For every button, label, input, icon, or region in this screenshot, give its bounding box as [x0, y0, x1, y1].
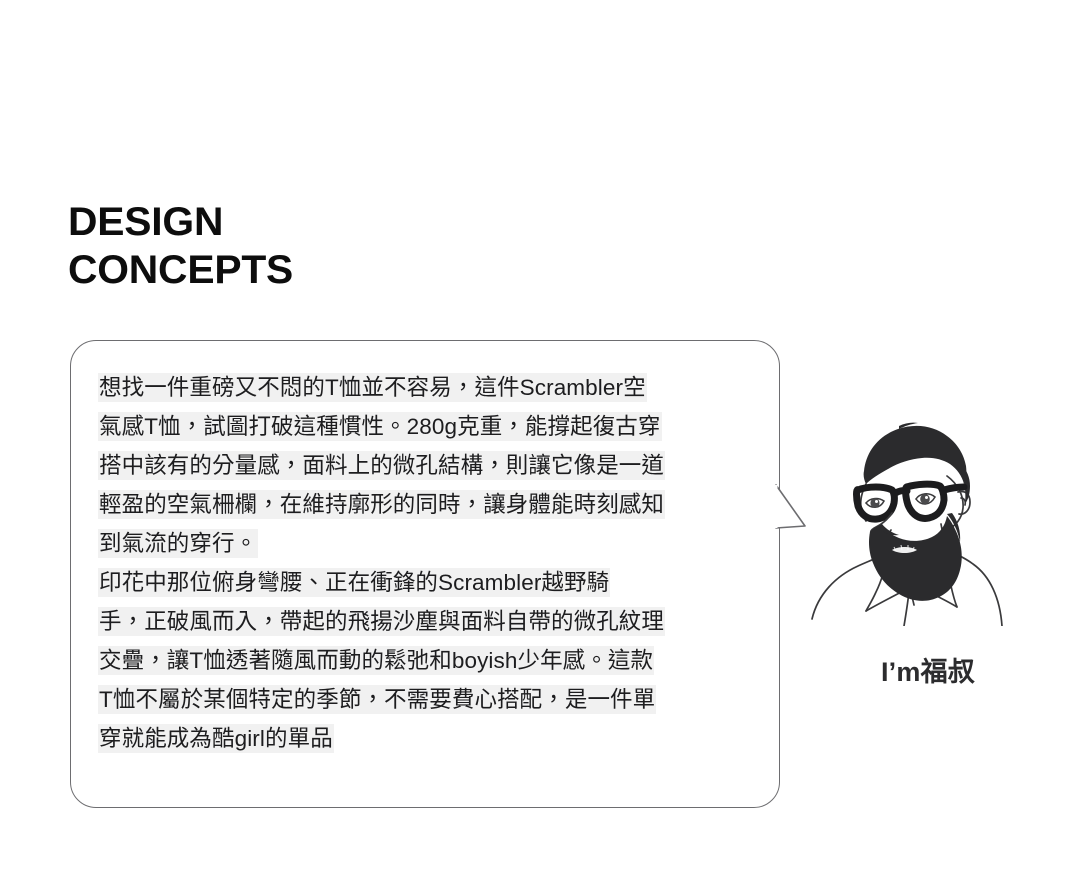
description-line: 想找一件重磅又不悶的T恤並不容易，這件Scrambler空 [98, 368, 762, 407]
description-line: 交疊，讓T恤透著隨風而動的鬆弛和boyish少年感。這款 [98, 641, 762, 680]
description-line: 到氣流的穿行。 [98, 524, 762, 563]
description-line-text: 搭中該有的分量感，面料上的微孔結構，則讓它像是一道 [98, 451, 665, 480]
description-line-text: 到氣流的穿行。 [98, 529, 258, 558]
description-line: 氣感T恤，試圖打破這種慣性。280g克重，能撐起復古穿 [98, 407, 762, 446]
description-line: 搭中該有的分量感，面料上的微孔結構，則讓它像是一道 [98, 446, 762, 485]
description-line: 印花中那位俯身彎腰、正在衝鋒的Scrambler越野騎 [98, 563, 762, 602]
description-line-text: 手，正破風而入，帶起的飛揚沙塵與面料自帶的微孔紋理 [98, 607, 665, 636]
description-line-text: 穿就能成為酷girl的單品 [98, 724, 334, 753]
page-title: DESIGN CONCEPTS [68, 202, 289, 298]
description-speech-bubble: 想找一件重磅又不悶的T恤並不容易，這件Scrambler空 氣感T恤，試圖打破這… [70, 340, 780, 808]
description-line: T恤不屬於某個特定的季節，不需要費心搭配，是一件單 [98, 680, 762, 719]
description-line-text: 交疊，讓T恤透著隨風而動的鬆弛和boyish少年感。這款 [98, 646, 654, 675]
portrait-caption: I’m福叔 [806, 650, 1050, 689]
description-text: 想找一件重磅又不悶的T恤並不容易，這件Scrambler空 氣感T恤，試圖打破這… [98, 368, 762, 790]
description-line-text: T恤不屬於某個特定的季節，不需要費心搭配，是一件單 [98, 685, 656, 714]
description-line-text: 氣感T恤，試圖打破這種慣性。280g克重，能撐起復古穿 [98, 412, 662, 441]
page-title-line-2: CONCEPTS [68, 250, 293, 290]
description-line-text: 印花中那位俯身彎腰、正在衝鋒的Scrambler越野騎 [98, 568, 610, 597]
bearded-man-portrait-icon [806, 414, 1050, 626]
page-title-line-1: DESIGN [68, 202, 293, 242]
description-line-text: 輕盈的空氣柵欄，在維持廓形的同時，讓身體能時刻感知 [98, 490, 665, 519]
description-line: 手，正破風而入，帶起的飛揚沙塵與面料自帶的微孔紋理 [98, 602, 762, 641]
description-line: 輕盈的空氣柵欄，在維持廓形的同時，讓身體能時刻感知 [98, 485, 762, 524]
description-line: 穿就能成為酷girl的單品 [98, 719, 762, 758]
description-line-text: 想找一件重磅又不悶的T恤並不容易，這件Scrambler空 [98, 373, 647, 402]
